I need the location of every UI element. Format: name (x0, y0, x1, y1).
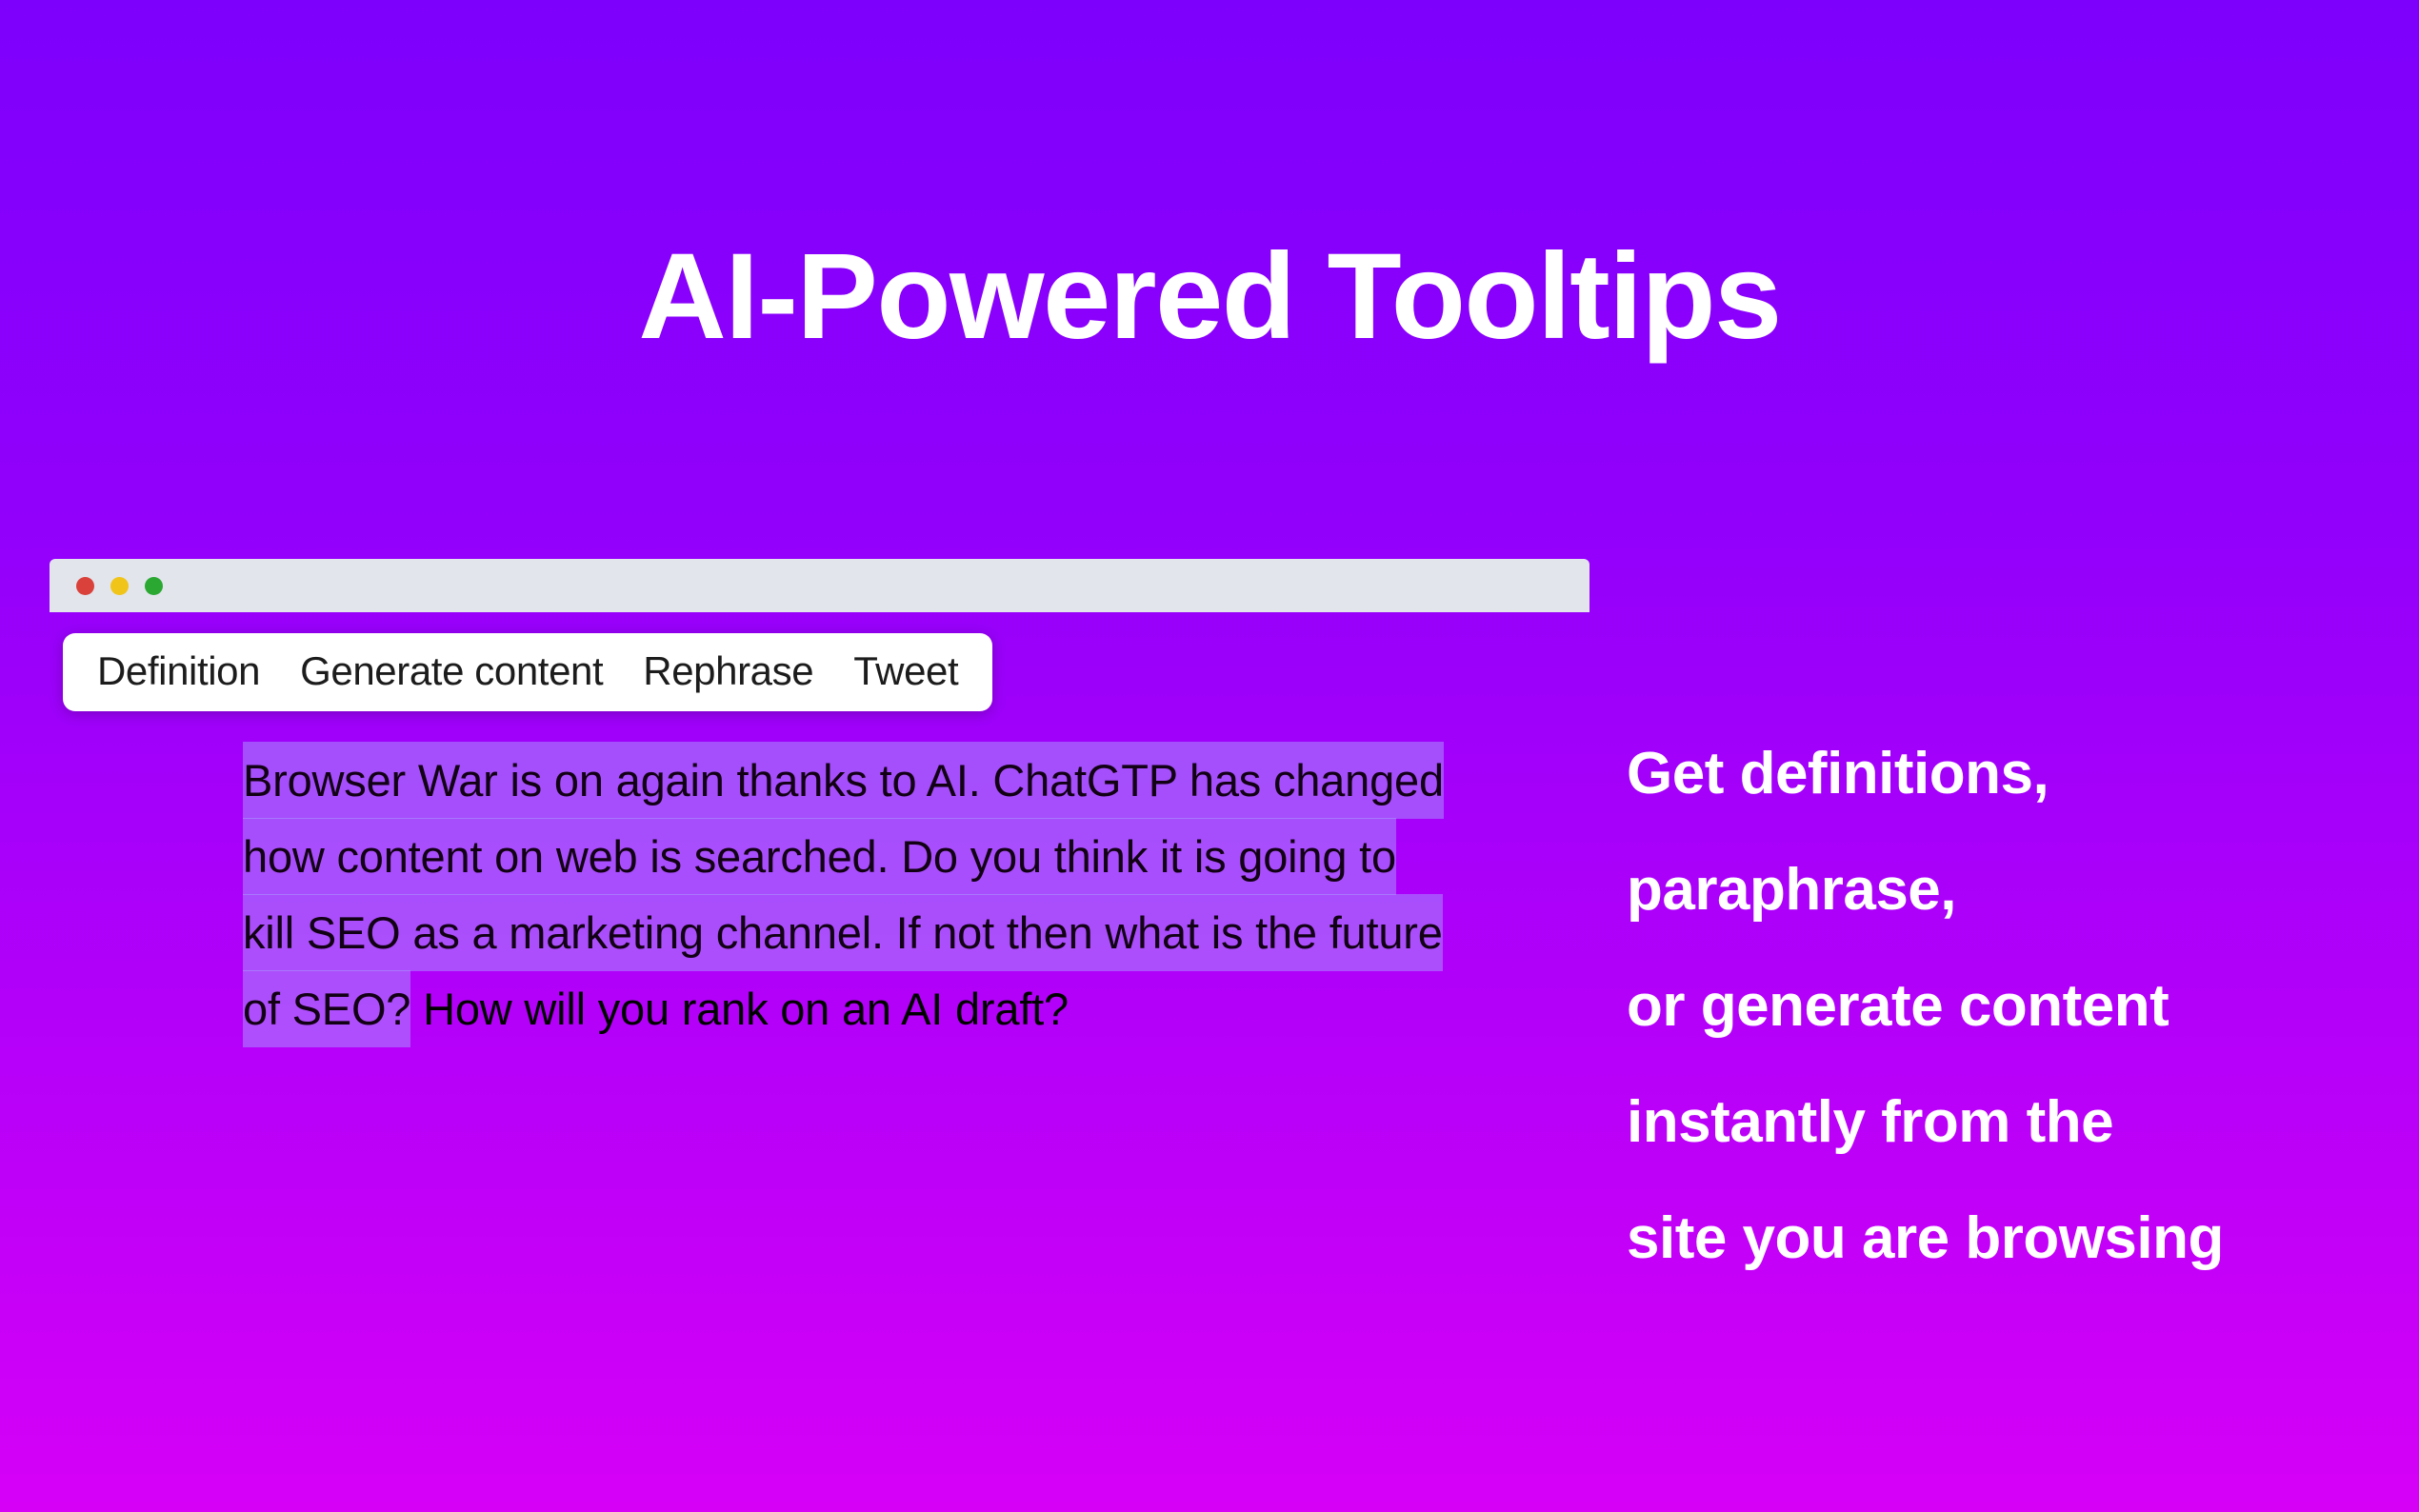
browser-titlebar (50, 559, 1589, 612)
maximize-dot[interactable] (145, 577, 163, 595)
tooltip-item-definition[interactable]: Definition (97, 651, 260, 691)
ai-tooltip-popup: Definition Generate content Rephrase Twe… (63, 633, 992, 711)
article-paragraph[interactable]: Browser War is on again thanks to AI. Ch… (243, 743, 1457, 1047)
browser-window (50, 559, 1589, 612)
feature-copy-line: or generate content (1627, 948, 2408, 1064)
feature-copy-line: Get definitions, (1627, 716, 2408, 832)
close-dot[interactable] (76, 577, 94, 595)
feature-copy-line: paraphrase, (1627, 832, 2408, 948)
feature-copy-line: instantly from the (1627, 1064, 2408, 1181)
minimize-dot[interactable] (110, 577, 129, 595)
unselected-text[interactable]: How will you rank on an AI draft? (410, 984, 1069, 1034)
feature-copy: Get definitions, paraphrase, or generate… (1627, 716, 2408, 1297)
feature-copy-line: site you are browsing (1627, 1181, 2408, 1297)
page-title: AI-Powered Tooltips (0, 236, 2419, 358)
tooltip-item-tweet[interactable]: Tweet (853, 651, 958, 691)
tooltip-item-generate-content[interactable]: Generate content (300, 651, 603, 691)
tooltip-item-rephrase[interactable]: Rephrase (643, 651, 813, 691)
